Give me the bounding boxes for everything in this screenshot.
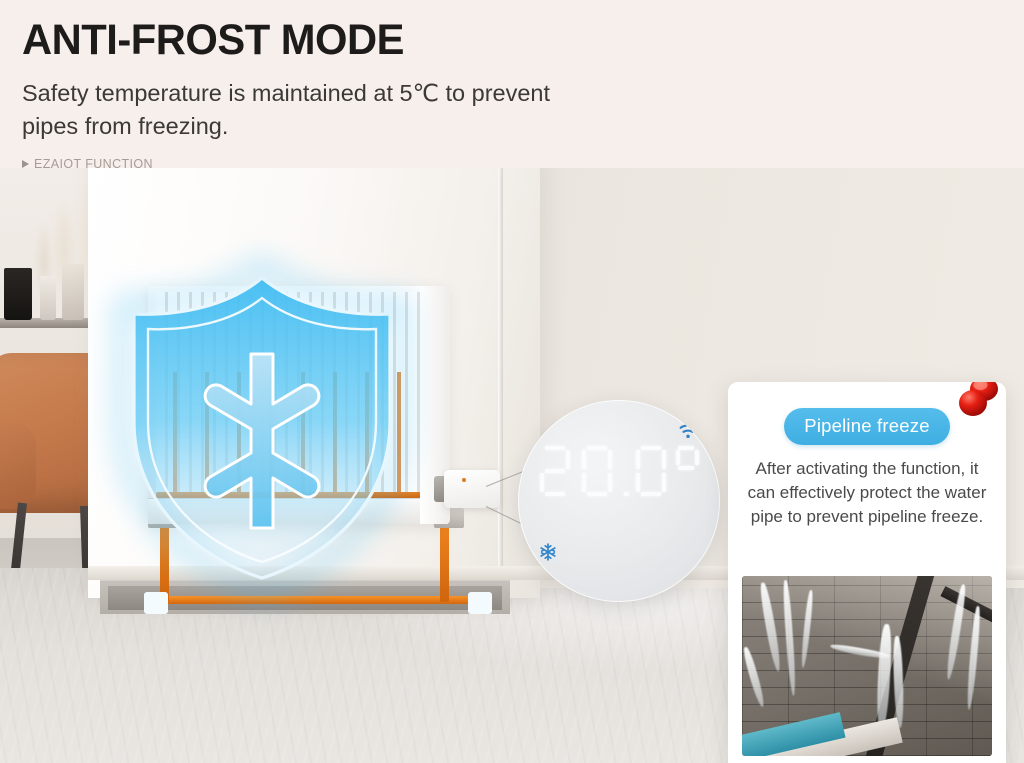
snowflake-icon: [538, 542, 558, 562]
status-badge: Pipeline freeze: [784, 408, 949, 445]
pipe-vertical-right: [440, 518, 449, 602]
page-subtitle: Safety temperature is maintained at 5℃ t…: [22, 77, 597, 142]
wall-edge: [498, 168, 503, 598]
led-decimal-point: [624, 492, 629, 496]
eyebrow-label: EZAIOT FUNCTION: [34, 157, 153, 171]
frozen-pipe-photo: [742, 576, 992, 756]
led-temperature-readout: [540, 446, 698, 534]
eyebrow: EZAIOT FUNCTION: [22, 157, 642, 171]
shield-graphic: [118, 272, 406, 584]
product-scene: Pipeline freeze After activating the fun…: [0, 168, 1024, 763]
valve-indicator-dot: [462, 478, 466, 482]
info-card-text: After activating the function, it can ef…: [744, 457, 990, 529]
thermostat-valve-head: [444, 470, 500, 508]
led-display-magnifier: [518, 400, 720, 602]
page-title: ANTI-FROST MODE: [22, 18, 623, 63]
led-digit: [582, 446, 612, 496]
shield-glow: [104, 258, 420, 598]
pushpin-icon: [954, 382, 1000, 426]
header: ANTI-FROST MODE Safety temperature is ma…: [22, 18, 642, 171]
led-digit: [540, 446, 570, 496]
wifi-icon: [678, 422, 698, 440]
info-card: Pipeline freeze After activating the fun…: [728, 382, 1006, 763]
led-degree-mark: [676, 446, 706, 496]
led-digit: [636, 446, 666, 496]
promo-banner: ANTI-FROST MODE Safety temperature is ma…: [0, 0, 1024, 763]
pipe-elbow-right: [468, 592, 492, 614]
triangle-right-icon: [22, 160, 29, 168]
